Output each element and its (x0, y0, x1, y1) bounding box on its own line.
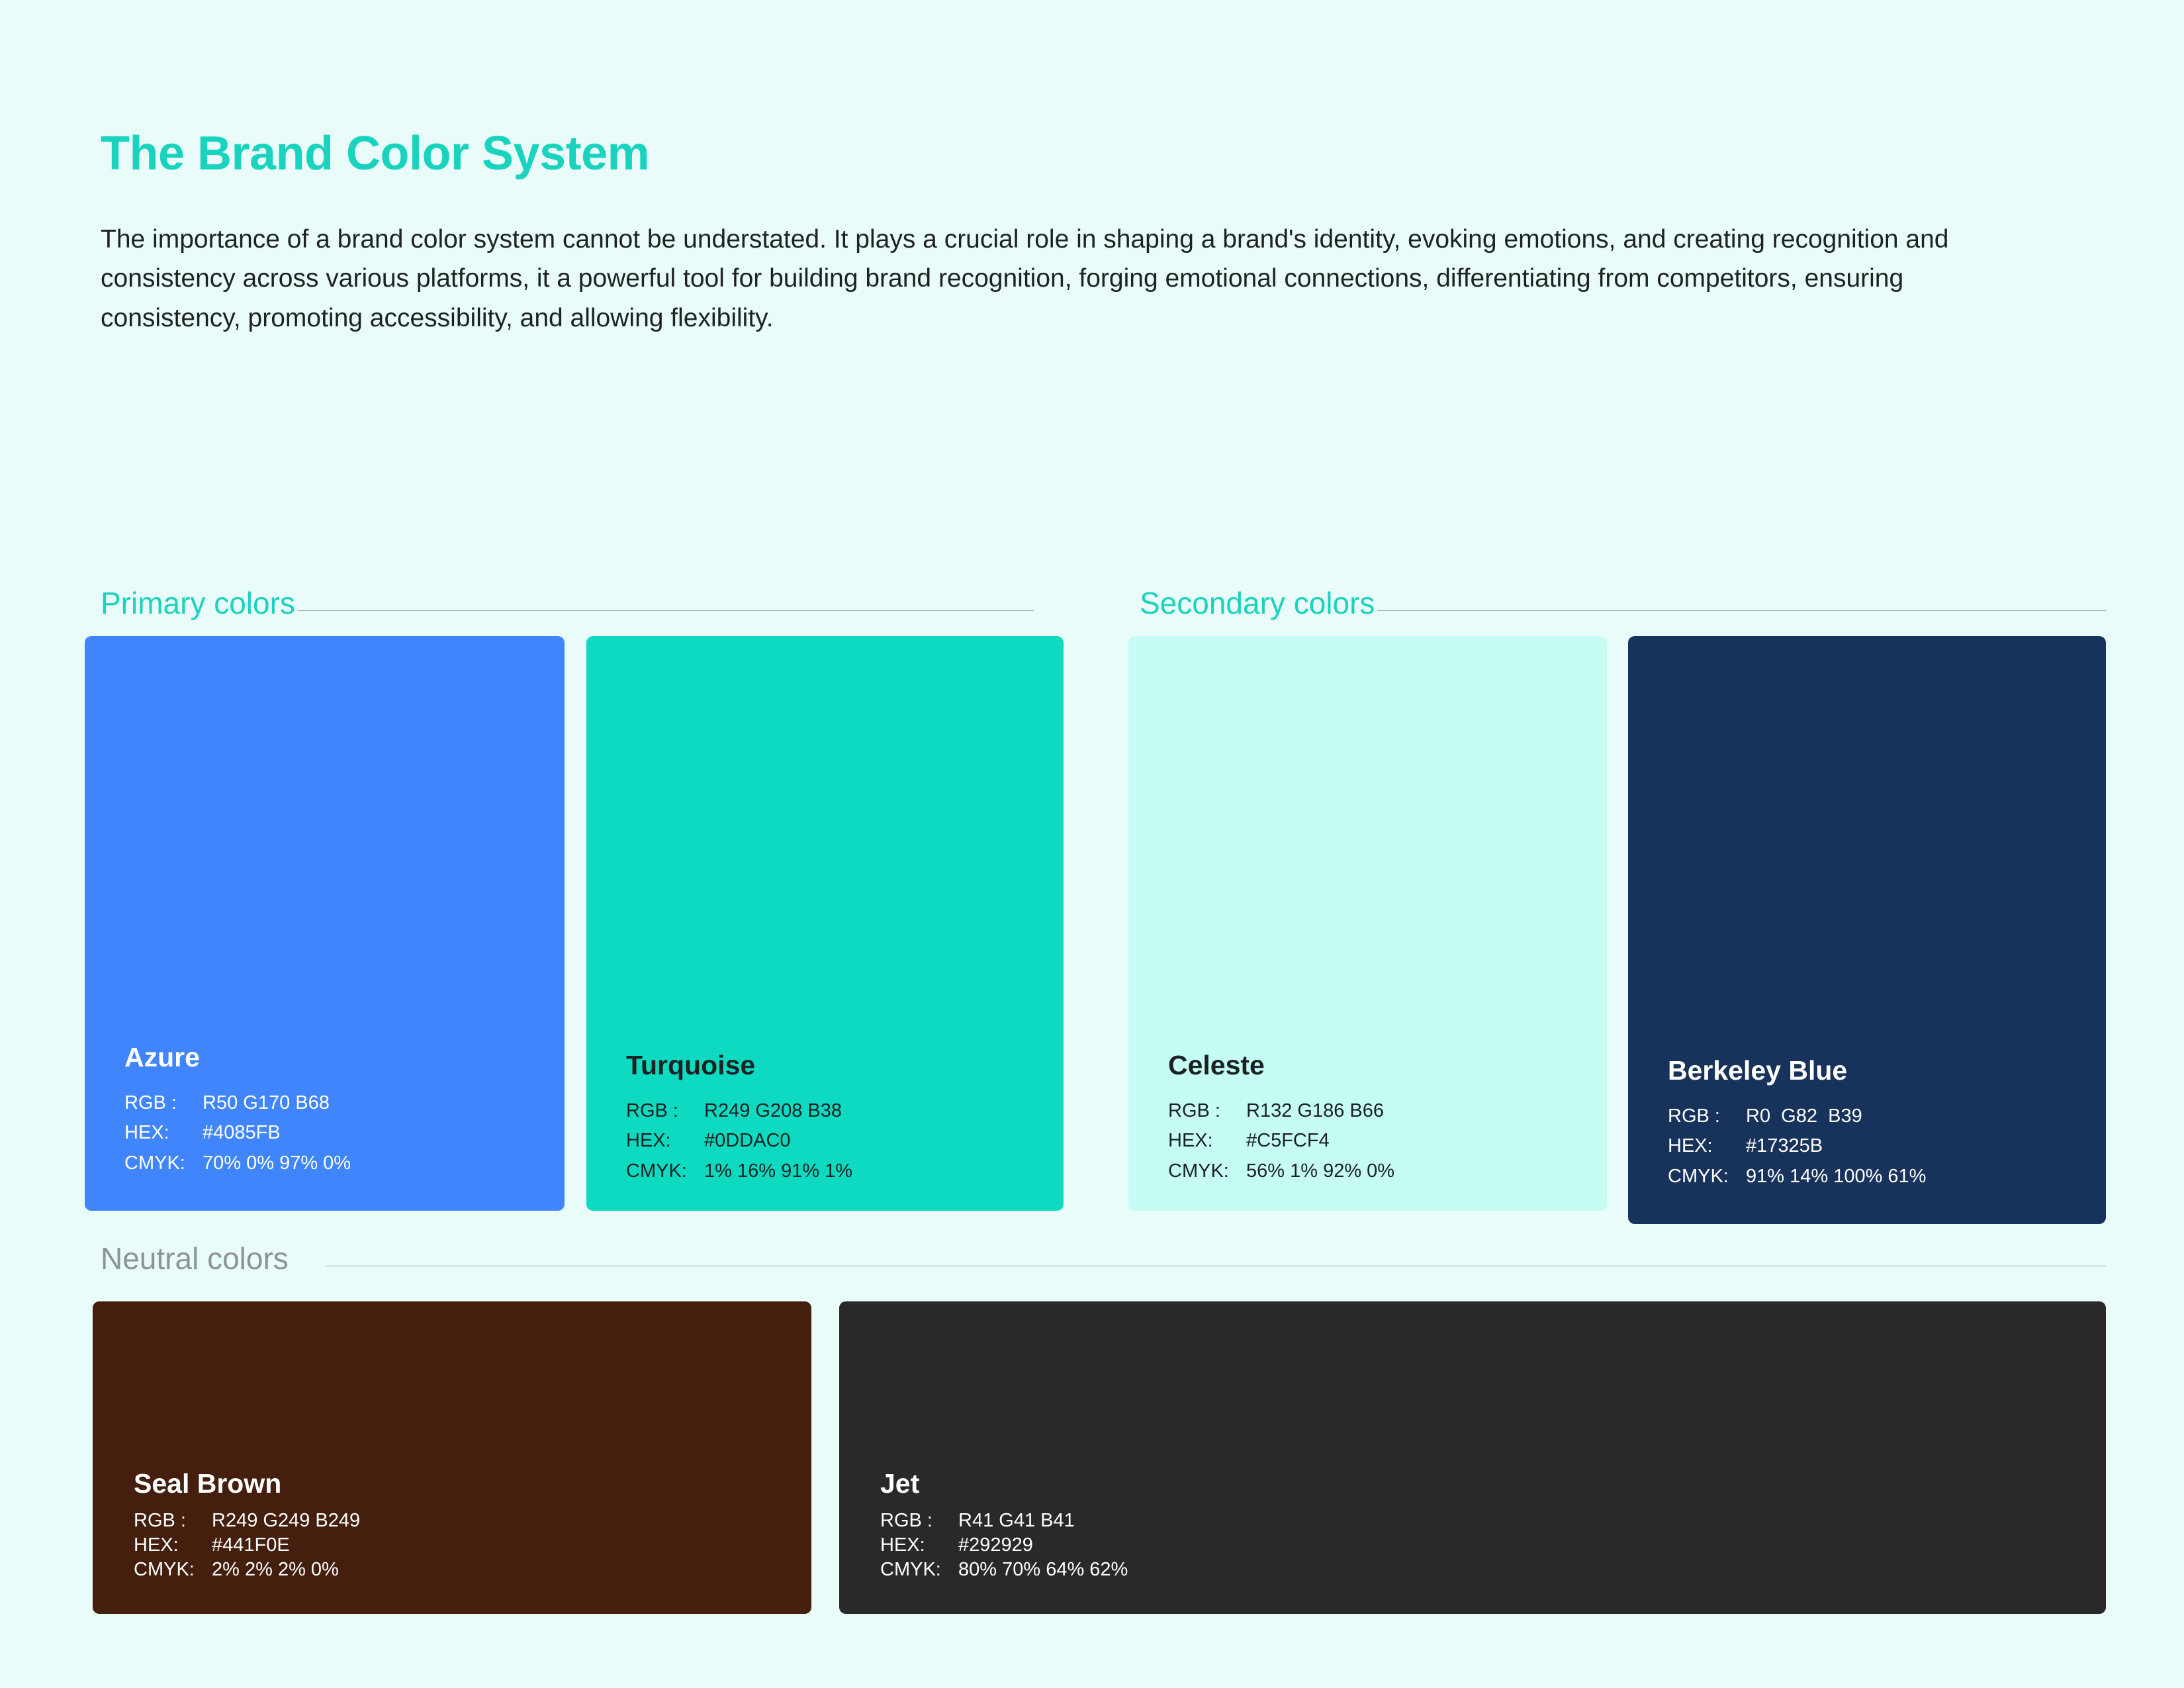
hex-value: #17325B (1746, 1135, 1823, 1156)
swatch-hex: HEX:#0DDAC0 (626, 1126, 1048, 1156)
page-header: The Brand Color System The importance of… (101, 130, 2086, 338)
rgb-value: R132 G186 B66 (1246, 1100, 1384, 1121)
swatch-name: Jet (880, 1468, 2090, 1499)
hex-value: #441F0E (212, 1534, 290, 1556)
swatch-cmyk: CMYK:91% 14% 100% 61% (1668, 1162, 2090, 1192)
section-heading-secondary: Secondary colors (1140, 588, 2106, 618)
section-divider-primary (298, 610, 1034, 611)
swatch-info: Seal Brown RGB :R249 G249 B249 HEX:#441F… (134, 1468, 796, 1582)
hex-label: HEX: (134, 1533, 212, 1558)
swatch-cmyk: CMYK:80% 70% 64% 62% (880, 1558, 2090, 1582)
swatch-rgb: RGB :R41 G41 B41 (880, 1509, 2090, 1533)
swatch-hex: HEX:#17325B (1668, 1131, 2090, 1162)
swatch-info: Celeste RGB :R132 G186 B66 HEX:#C5FCF4 C… (1168, 1050, 1591, 1187)
hex-value: #292929 (958, 1534, 1033, 1556)
hex-value: #C5FCF4 (1246, 1130, 1330, 1151)
hex-label: HEX: (1168, 1126, 1246, 1156)
swatch-hex: HEX:#441F0E (134, 1533, 796, 1558)
swatch-cmyk: CMYK:2% 2% 2% 0% (134, 1558, 796, 1582)
color-swatch-berkeley-blue[interactable]: Berkeley Blue RGB :R0 G82 B39 HEX:#17325… (1628, 636, 2106, 1224)
swatch-rgb: RGB :R249 G208 B38 (626, 1096, 1048, 1127)
page-description: The importance of a brand color system c… (101, 220, 2007, 338)
swatch-name: Azure (124, 1042, 549, 1073)
color-swatch-azure[interactable]: Azure RGB :R50 G170 B68 HEX:#4085FB CMYK… (85, 636, 565, 1211)
swatch-rgb: RGB :R132 G186 B66 (1168, 1096, 1591, 1127)
swatch-cmyk: CMYK:1% 16% 91% 1% (626, 1156, 1048, 1187)
rgb-label: RGB : (134, 1509, 212, 1533)
rgb-label: RGB : (626, 1096, 704, 1127)
section-heading-neutral: Neutral colors (101, 1243, 2106, 1274)
swatch-cmyk: CMYK:70% 0% 97% 0% (124, 1149, 549, 1179)
rgb-value: R249 G249 B249 (212, 1510, 360, 1531)
cmyk-value: 70% 0% 97% 0% (203, 1152, 351, 1174)
hex-value: #4085FB (203, 1122, 281, 1143)
cmyk-value: 56% 1% 92% 0% (1246, 1160, 1394, 1182)
rgb-label: RGB : (880, 1509, 958, 1533)
section-heading-neutral-label: Neutral colors (101, 1243, 289, 1274)
color-swatch-turquoise[interactable]: Turquoise RGB :R249 G208 B38 HEX:#0DDAC0… (586, 636, 1064, 1211)
hex-label: HEX: (124, 1118, 203, 1149)
cmyk-value: 80% 70% 64% 62% (958, 1559, 1128, 1580)
hex-value: #0DDAC0 (704, 1130, 791, 1151)
swatch-info: Azure RGB :R50 G170 B68 HEX:#4085FB CMYK… (124, 1042, 549, 1179)
rgb-value: R50 G170 B68 (203, 1092, 330, 1113)
rgb-label: RGB : (1168, 1096, 1246, 1127)
swatch-rgb: RGB :R0 G82 B39 (1668, 1102, 2090, 1132)
section-heading-secondary-label: Secondary colors (1140, 588, 1375, 618)
swatch-hex: HEX:#292929 (880, 1533, 2090, 1558)
swatch-hex: HEX:#4085FB (124, 1118, 549, 1149)
cmyk-label: CMYK: (1668, 1162, 1746, 1192)
section-divider-neutral (326, 1266, 2106, 1266)
cmyk-label: CMYK: (626, 1156, 704, 1187)
hex-label: HEX: (1668, 1131, 1746, 1162)
rgb-value: R41 G41 B41 (958, 1510, 1075, 1531)
swatch-info: Berkeley Blue RGB :R0 G82 B39 HEX:#17325… (1668, 1055, 2090, 1192)
swatch-info: Jet RGB :R41 G41 B41 HEX:#292929 CMYK:80… (880, 1468, 2090, 1582)
rgb-label: RGB : (124, 1088, 203, 1119)
cmyk-label: CMYK: (1168, 1156, 1246, 1187)
cmyk-value: 1% 16% 91% 1% (704, 1160, 852, 1182)
color-swatch-jet[interactable]: Jet RGB :R41 G41 B41 HEX:#292929 CMYK:80… (839, 1301, 2106, 1614)
cmyk-value: 91% 14% 100% 61% (1746, 1166, 1926, 1187)
swatch-rgb: RGB :R50 G170 B68 (124, 1088, 549, 1119)
cmyk-value: 2% 2% 2% 0% (212, 1559, 339, 1580)
cmyk-label: CMYK: (880, 1558, 958, 1582)
swatch-hex: HEX:#C5FCF4 (1168, 1126, 1591, 1156)
swatch-name: Berkeley Blue (1668, 1055, 2090, 1086)
swatch-rgb: RGB :R249 G249 B249 (134, 1509, 796, 1533)
color-system-page: The Brand Color System The importance of… (0, 0, 2184, 1688)
section-divider-secondary (1377, 610, 2106, 611)
swatch-name: Celeste (1168, 1050, 1591, 1081)
rgb-label: RGB : (1668, 1102, 1746, 1132)
cmyk-label: CMYK: (124, 1149, 203, 1179)
hex-label: HEX: (626, 1126, 704, 1156)
swatch-name: Turquoise (626, 1050, 1048, 1081)
color-swatch-seal-brown[interactable]: Seal Brown RGB :R249 G249 B249 HEX:#441F… (93, 1301, 811, 1614)
hex-label: HEX: (880, 1533, 958, 1558)
page-title: The Brand Color System (101, 130, 2086, 177)
swatch-cmyk: CMYK:56% 1% 92% 0% (1168, 1156, 1591, 1187)
rgb-value: R0 G82 B39 (1746, 1105, 1862, 1127)
rgb-value: R249 G208 B38 (704, 1100, 842, 1121)
swatch-info: Turquoise RGB :R249 G208 B38 HEX:#0DDAC0… (626, 1050, 1048, 1187)
color-swatch-celeste[interactable]: Celeste RGB :R132 G186 B66 HEX:#C5FCF4 C… (1128, 636, 1607, 1211)
cmyk-label: CMYK: (134, 1558, 212, 1582)
section-heading-primary: Primary colors (101, 588, 1034, 618)
section-heading-primary-label: Primary colors (101, 588, 295, 618)
swatch-name: Seal Brown (134, 1468, 796, 1499)
